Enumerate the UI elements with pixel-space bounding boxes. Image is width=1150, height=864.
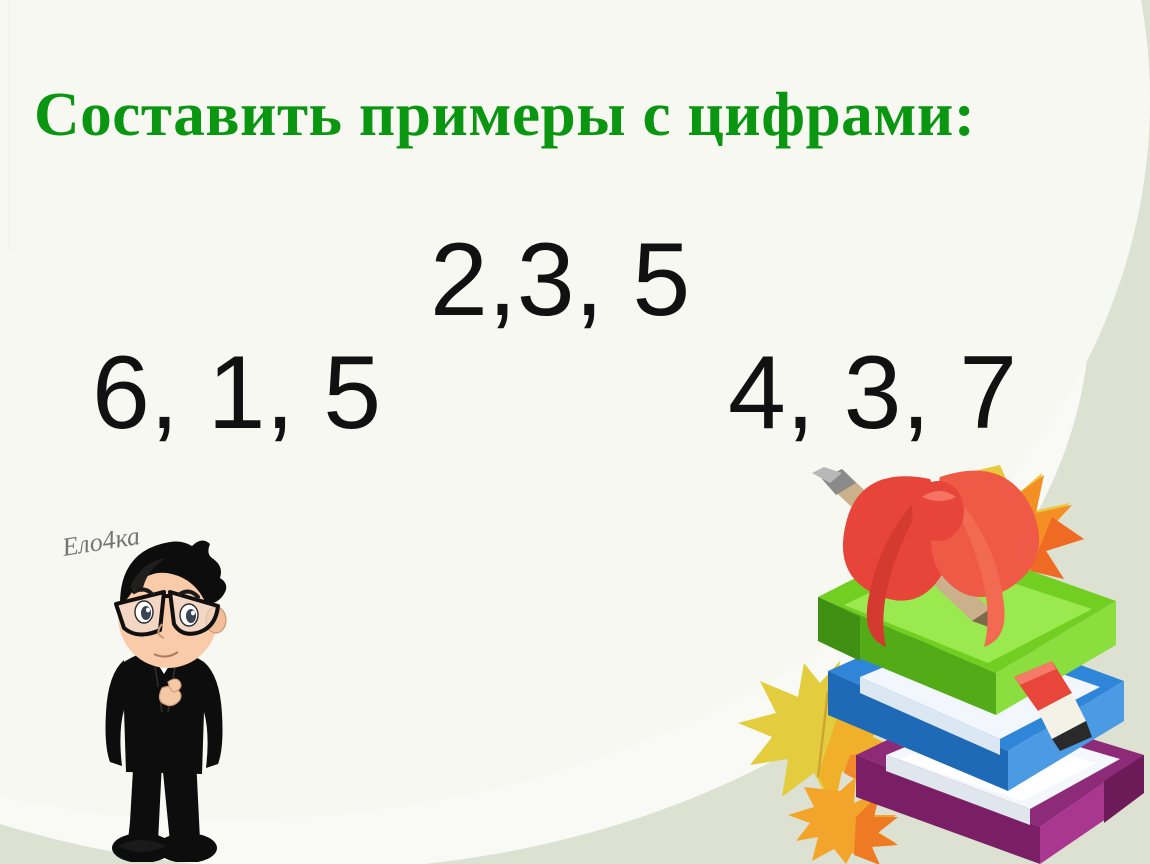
number-group-top: 2,3, 5 — [430, 228, 690, 332]
slide-canvas: Составить примеры с цифрами: 2,3, 5 6, 1… — [0, 0, 1150, 864]
books-and-leaves-illustration — [700, 425, 1150, 864]
page-title: Составить примеры с цифрами: — [34, 84, 993, 146]
thinking-boy-illustration — [58, 512, 278, 862]
number-group-left: 6, 1, 5 — [92, 341, 381, 445]
